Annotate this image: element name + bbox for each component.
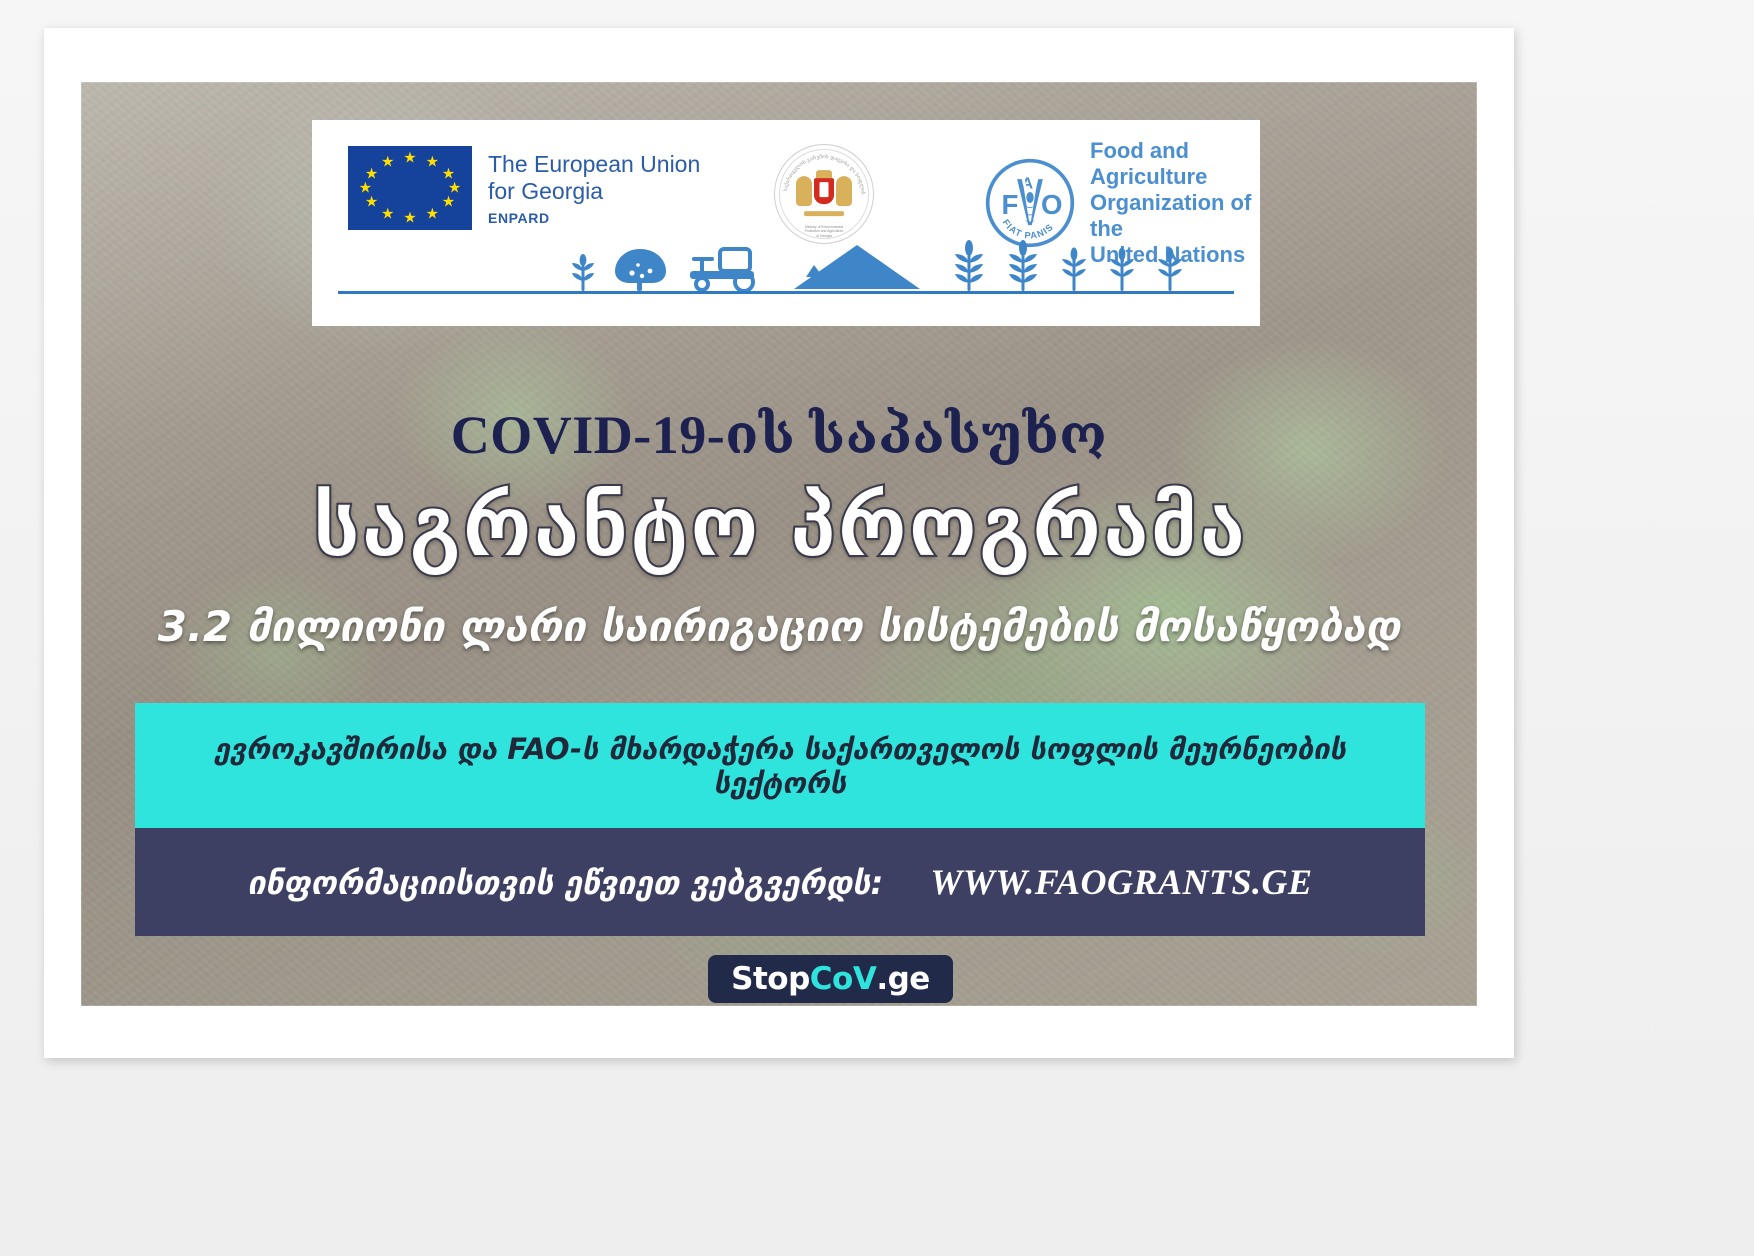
seal-lion-right (836, 176, 852, 206)
enpard-label: ENPARD (488, 210, 700, 226)
fao-line-1: Food and Agriculture (1090, 138, 1260, 190)
page-title: საგრანტო პროგრამა (81, 472, 1477, 582)
strip-divider (338, 291, 1234, 294)
seal-coat-of-arms (795, 170, 853, 216)
mountain-icon (792, 243, 922, 291)
wheat-sprout-icon (570, 251, 596, 291)
logo-bar: ★ ★ ★ ★ ★ ★ ★ ★ ★ ★ ★ ★ (312, 120, 1260, 326)
support-band: ევროკავშირისა და FAO-ს მხარდაჭერა საქართ… (135, 703, 1425, 828)
badge-cov-text: CoV (810, 961, 877, 997)
seal-crown (816, 170, 832, 178)
logo-row: ★ ★ ★ ★ ★ ★ ★ ★ ★ ★ ★ ★ (312, 128, 1260, 248)
eu-logo-block: ★ ★ ★ ★ ★ ★ ★ ★ ★ ★ ★ ★ (348, 146, 700, 230)
support-band-text: ევროკავშირისა და FAO-ს მხარდაჭერა საქართ… (135, 732, 1425, 800)
eu-flag-icon: ★ ★ ★ ★ ★ ★ ★ ★ ★ ★ ★ ★ (348, 146, 472, 230)
badge-stop-text: Stop (731, 961, 810, 997)
eu-line-1: The European Union (488, 151, 700, 178)
website-url[interactable]: WWW.FAOGRANTS.GE (912, 862, 1330, 902)
eyebrow-headline: COVID-19-ის საპასუხო (81, 402, 1477, 466)
fao-line-2: Organization of the (1090, 190, 1260, 242)
wheat-stalk-icon (1108, 247, 1136, 291)
strip-icon-row (312, 239, 1260, 291)
wheat-stalk-icon (952, 239, 986, 291)
georgia-ministry-emblem-icon: საქართველოს გარემოს დაცვისა და სოფლის Mi… (774, 144, 874, 244)
website-band: ინფორმაციისთვის ეწვიეთ ვებგვერდს: WWW.FA… (135, 828, 1425, 936)
svg-text:O: O (1041, 189, 1062, 220)
poster-page: ★ ★ ★ ★ ★ ★ ★ ★ ★ ★ ★ ★ (0, 0, 1754, 1256)
eu-text-block: The European Union for Georgia ENPARD (488, 151, 700, 226)
eu-line-2: for Georgia (488, 178, 700, 205)
agriculture-icon-strip (312, 240, 1260, 306)
seal-lion-left (796, 176, 812, 206)
stopcov-badge[interactable]: StopCoV.ge (708, 955, 953, 1003)
seal-caption: Ministry of Environmental Protection and… (787, 225, 861, 238)
fao-logo-icon: F O A FIAT PAN (984, 157, 1076, 249)
website-band-prefix: ინფორმაციისთვის ეწვიეთ ვებგვერდს: (229, 864, 901, 902)
tree-icon (612, 247, 668, 291)
website-band-text: ინფორმაციისთვის ეწვიეთ ვებგვერდს: WWW.FA… (211, 861, 1348, 903)
poster-sheet: ★ ★ ★ ★ ★ ★ ★ ★ ★ ★ ★ ★ (44, 28, 1514, 1058)
wheat-stalk-icon (1060, 247, 1088, 291)
seal-base (804, 211, 844, 216)
svg-text:F: F (1001, 189, 1018, 220)
wheat-stalk-icon (1006, 239, 1040, 291)
poster-canvas: ★ ★ ★ ★ ★ ★ ★ ★ ★ ★ ★ ★ (81, 82, 1477, 1006)
tractor-icon (684, 243, 766, 291)
amount-subheadline: 3.2 მილიონი ლარი საირიგაციო სისტემების მ… (81, 602, 1477, 651)
badge-ge-text: .ge (876, 961, 930, 997)
seal-shield (814, 178, 834, 204)
wheat-stalk-icon (1156, 247, 1184, 291)
